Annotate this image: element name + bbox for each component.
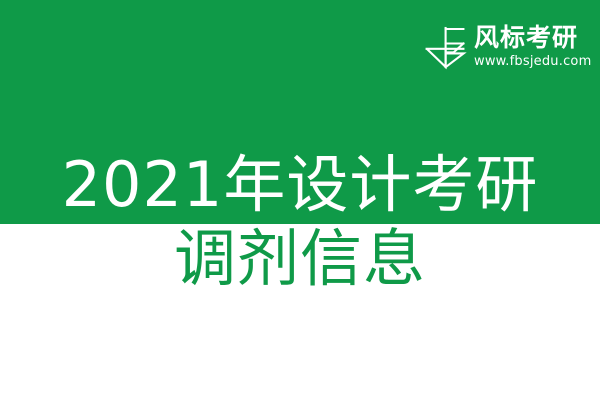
white-lower-area (0, 224, 600, 400)
fbsj-monogram-icon (425, 24, 467, 70)
brand-text-block: 风标考研 www.fbsjedu.com (474, 24, 591, 70)
brand-url: www.fbsjedu.com (474, 54, 591, 70)
promo-banner: 风标考研 www.fbsjedu.com 2021年设计考研 调剂信息 (0, 0, 600, 400)
brand-logo-lockup[interactable]: 风标考研 www.fbsjedu.com (425, 22, 583, 72)
brand-name: 风标考研 (474, 24, 578, 51)
